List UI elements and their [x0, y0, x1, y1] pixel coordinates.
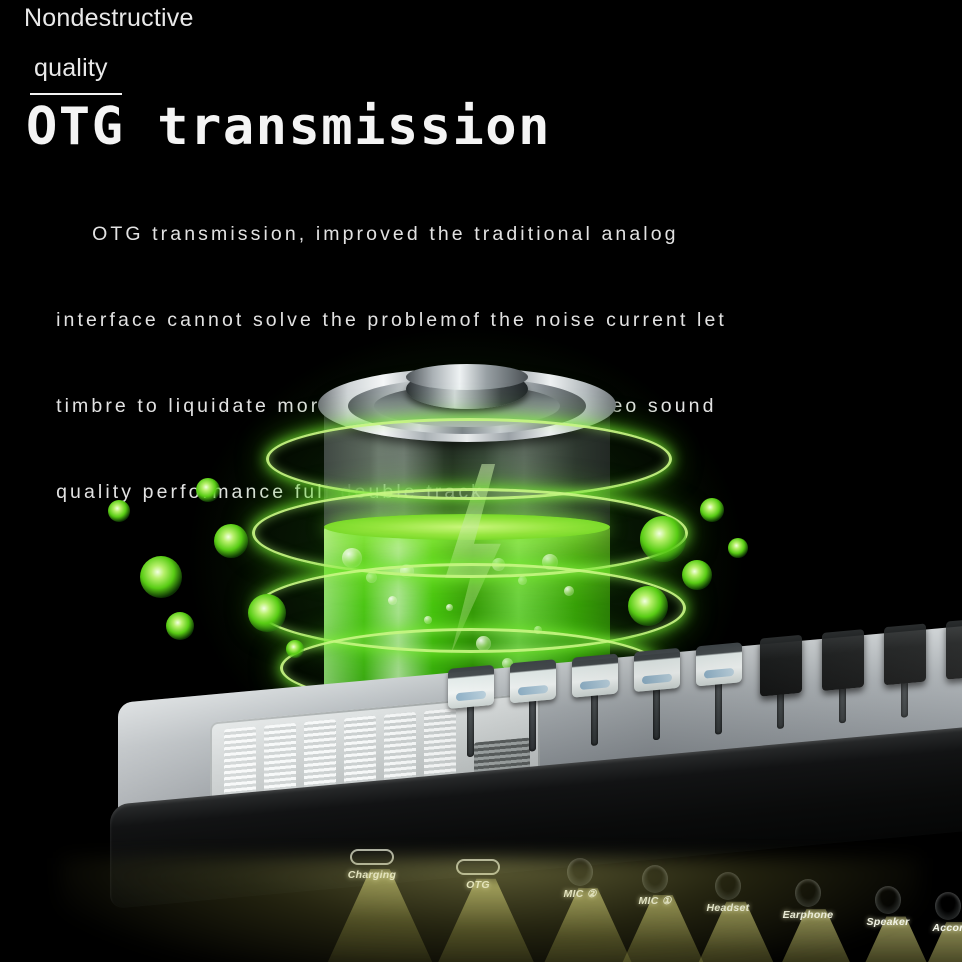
- eyebrow-line-1: Nondestructive: [24, 4, 194, 33]
- glow-orb: [700, 498, 724, 522]
- fader-track: [715, 662, 722, 735]
- fader-track: [653, 668, 660, 741]
- product-banner: Nondestructive quality OTG transmission …: [0, 0, 962, 962]
- panel-strip: [344, 716, 376, 789]
- port-label: Accor: [932, 922, 962, 934]
- glow-orb: [682, 560, 712, 590]
- glow-orb: [166, 612, 194, 640]
- mixer-device: ChargingOTGMIC ②MIC ①HeadsetEarphoneSpea…: [0, 655, 962, 962]
- fader-knob-white[interactable]: [510, 659, 556, 703]
- glow-orb: [214, 524, 248, 558]
- paragraph-line: OTG transmission, improved the tradition…: [56, 213, 679, 256]
- fader-knob-black[interactable]: [946, 618, 962, 680]
- panel-strip: [264, 723, 296, 796]
- fader-track: [529, 679, 536, 752]
- fader-track: [839, 651, 846, 724]
- fader-knob-black[interactable]: [760, 635, 802, 697]
- fader-knob-white[interactable]: [448, 665, 494, 709]
- battery-terminal-top: [406, 364, 528, 390]
- glow-orb: [248, 594, 286, 632]
- fader-track: [467, 685, 474, 758]
- panel-strip: [424, 708, 456, 781]
- eyebrow-line-2: quality: [34, 54, 108, 83]
- audio-jack-port[interactable]: [935, 892, 961, 920]
- glow-orb: [140, 556, 182, 598]
- title-underline-rule: [30, 93, 122, 95]
- fader-knob-white[interactable]: [634, 648, 680, 692]
- paragraph-line: interface cannot solve the problemof the…: [56, 309, 727, 331]
- fader-knob-black[interactable]: [884, 623, 926, 685]
- glow-orb: [196, 478, 220, 502]
- glow-orb: [108, 500, 130, 522]
- fader-track: [901, 645, 908, 718]
- fader-track: [591, 673, 598, 746]
- fader-knob-black[interactable]: [822, 629, 864, 691]
- fader-knob-white[interactable]: [572, 653, 618, 697]
- panel-strip: [304, 719, 336, 792]
- glow-orb: [628, 586, 668, 626]
- fader-track: [777, 656, 784, 729]
- panel-strip: [384, 712, 416, 785]
- panel-strip: [224, 726, 256, 799]
- page-title: OTG transmission: [26, 97, 551, 157]
- fader-knob-white[interactable]: [696, 642, 742, 686]
- glow-orb: [728, 538, 748, 558]
- glow-orb: [640, 516, 686, 562]
- light-pool: [60, 858, 920, 962]
